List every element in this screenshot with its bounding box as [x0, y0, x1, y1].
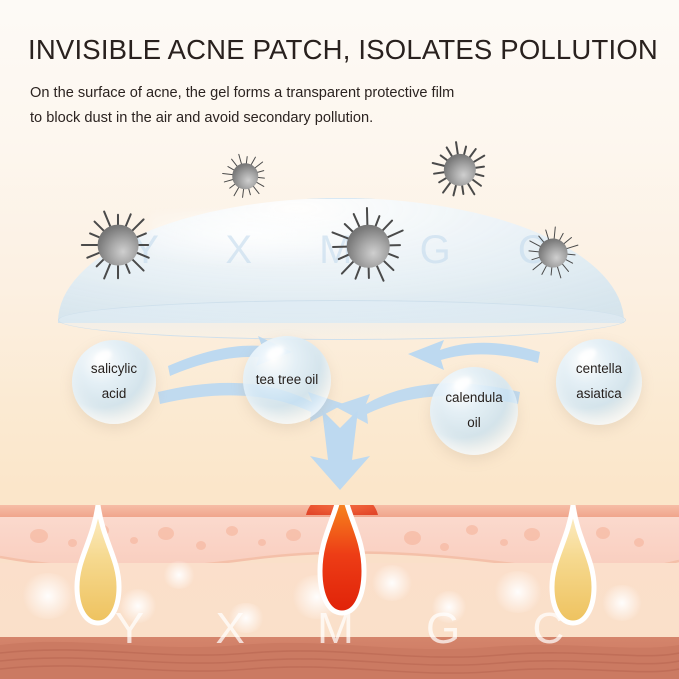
ingredient-bubble-tea-tree-oil[interactable]: tea tree oil [243, 336, 331, 424]
ingredient-bubble-centella-asiatica[interactable]: centella asiatica [556, 339, 642, 425]
ingredient-label-line2: acid [102, 382, 127, 407]
arrow-centella [408, 340, 540, 370]
ingredient-label-line2: asiatica [576, 382, 621, 407]
ingredient-bubble-salicylic-acid[interactable]: salicylic acid [72, 340, 156, 424]
ingredient-label-line1: tea tree oil [256, 368, 319, 393]
ingredient-bubble-calendula-oil[interactable]: calendula oil [430, 367, 518, 455]
watermark-bottom: Y X M G C [0, 604, 679, 654]
arrow-down-to-acne [310, 410, 370, 490]
ingredient-label-line1: calendula [445, 386, 502, 411]
infographic-canvas: INVISIBLE ACNE PATCH, ISOLATES POLLUTION… [0, 0, 679, 679]
bubble-highlight [264, 344, 286, 363]
ingredient-label-line2: oil [467, 411, 480, 436]
